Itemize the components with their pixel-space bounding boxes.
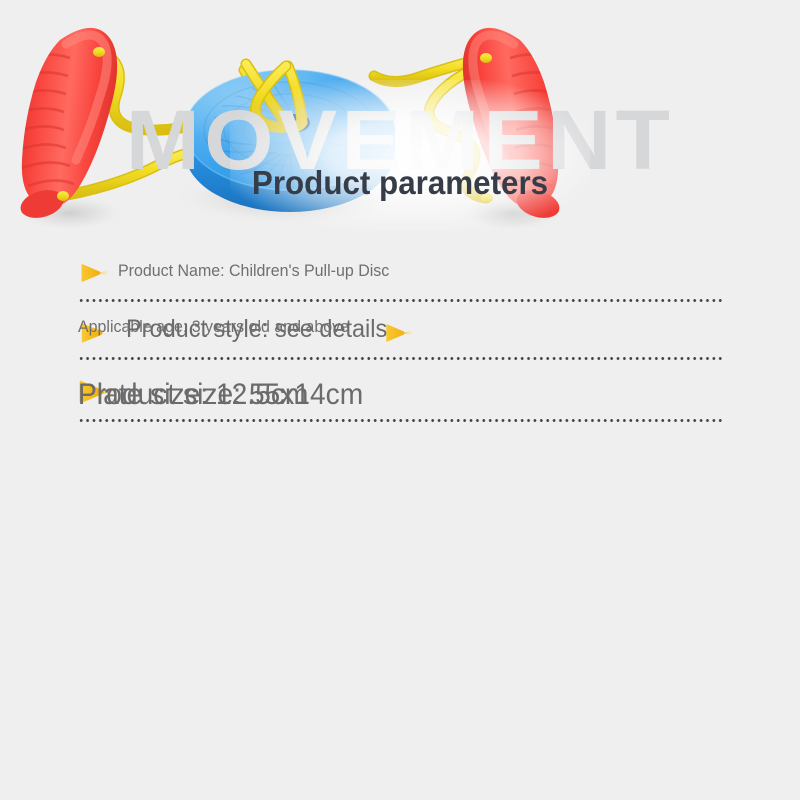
spec-row: Product style: see details: [78, 302, 722, 360]
spec-row: Product Name: Children's Pull-up Disc: [78, 246, 722, 302]
spec-divider: [78, 419, 722, 422]
product-parameters-page: MOVEMENT Product parameters: [0, 0, 800, 800]
bullet-arrow-icon: [80, 262, 110, 284]
spec-label: Product Name: Children's Pull-up Disc: [118, 260, 389, 282]
spec-label: Applicable age: 3 years old and above: [78, 316, 349, 338]
spec-label: Plate size: 12.5cm: [78, 378, 308, 412]
spec-list: Product Name: Children's Pull-up Disc: [78, 246, 722, 422]
header-block: MOVEMENT Product parameters: [0, 0, 800, 240]
bullet-arrow-icon: [385, 322, 415, 344]
spec-row: Product size: 55x14cm Plate size: 12.5cm: [78, 360, 722, 422]
page-title: Product parameters: [20, 164, 780, 202]
